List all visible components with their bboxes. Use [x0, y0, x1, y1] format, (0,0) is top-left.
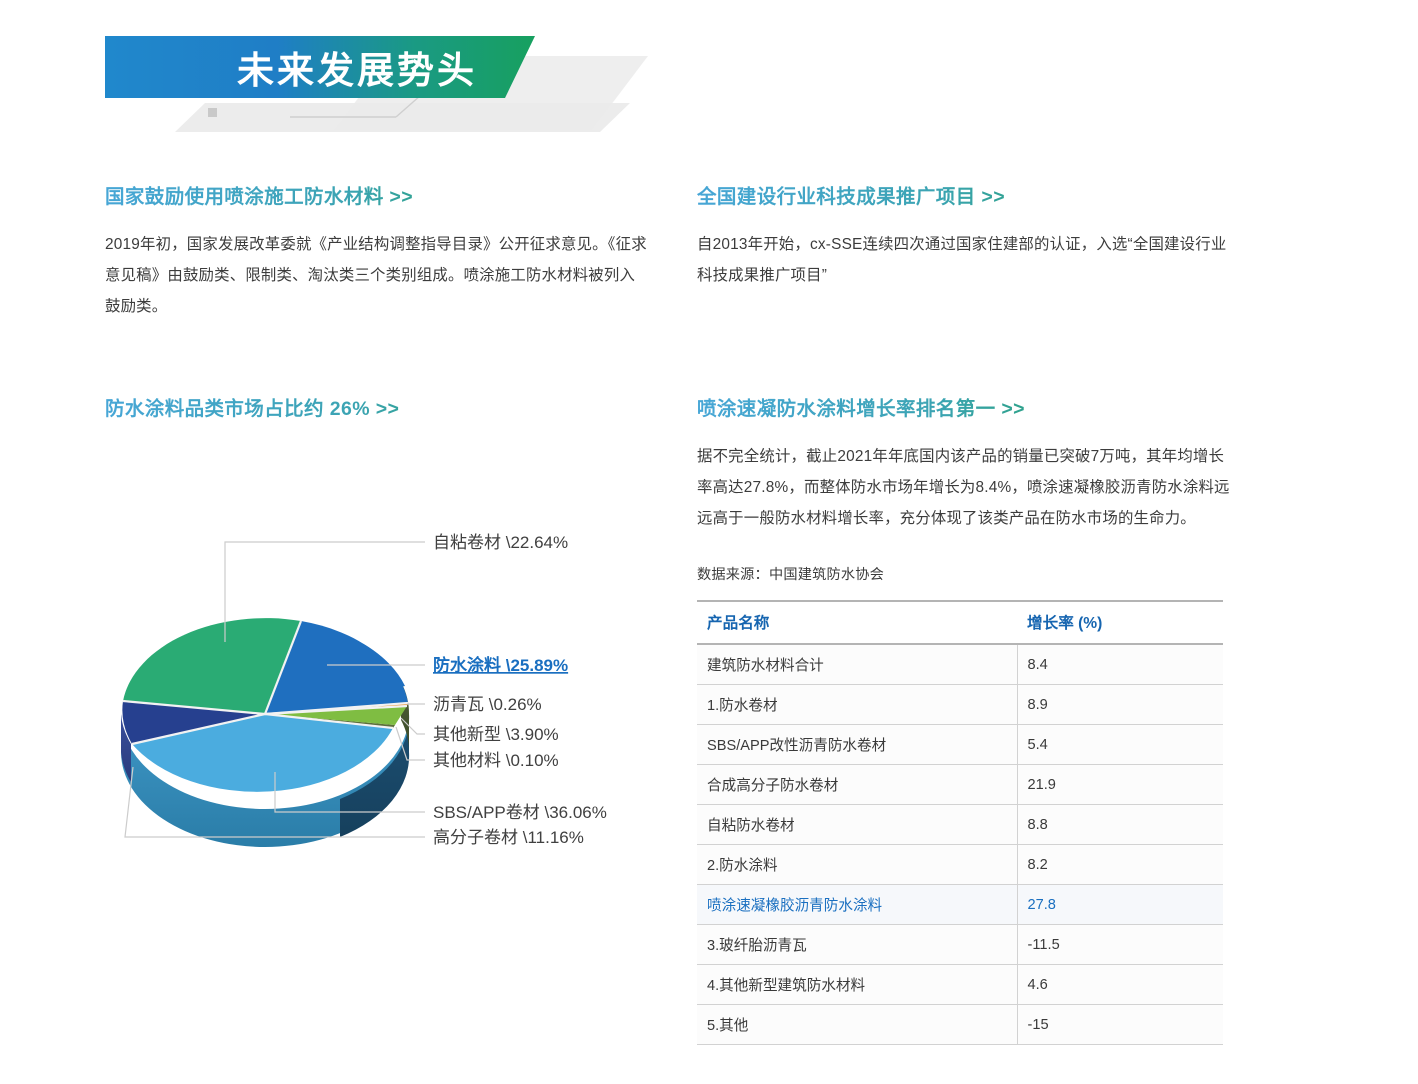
section-top-right: 全国建设行业科技成果推广项目 >> 自2013年开始，cx-SSE连续四次通过国… — [697, 180, 1237, 291]
section-body-growth-rank: 据不完全统计，截止2021年年底国内该产品的销量已突破7万吨，其年均增长率高达2… — [697, 441, 1237, 534]
cell-growth-rate: 8.8 — [1017, 805, 1223, 845]
cell-growth-rate: 4.6 — [1017, 965, 1223, 1005]
pie-label-fangshui-tuliao: 防水涂料 \25.89% — [433, 655, 568, 675]
table-row: SBS/APP改性沥青防水卷材5.4 — [697, 725, 1223, 765]
page-title: 未来发展势头 — [105, 36, 535, 98]
cell-product-name: 喷涂速凝橡胶沥青防水涂料 — [697, 885, 1017, 925]
cell-growth-rate: 8.9 — [1017, 685, 1223, 725]
page-header: 未来发展势头 — [0, 0, 1418, 150]
cell-product-name: 合成高分子防水卷材 — [697, 765, 1017, 805]
pie-chart: 自粘卷材 \22.64% 防水涂料 \25.89% 沥青瓦 \0.26% 其他新… — [105, 522, 665, 862]
section-heading-market-share: 防水涂料品类市场占比约 26% >> — [105, 392, 665, 421]
table-row: 2.防水涂料8.2 — [697, 845, 1223, 885]
section-bottom-left: 防水涂料品类市场占比约 26% >> — [105, 392, 665, 441]
cell-growth-rate: 5.4 — [1017, 725, 1223, 765]
cell-growth-rate: -11.5 — [1017, 925, 1223, 965]
pie-label-sbsapp-juancai: SBS/APP卷材 \36.06% — [433, 803, 607, 822]
table-row: 合成高分子防水卷材21.9 — [697, 765, 1223, 805]
table-row: 1.防水卷材8.9 — [697, 685, 1223, 725]
table-header-row: 产品名称 增长率 (%) — [697, 601, 1223, 644]
cell-growth-rate: 21.9 — [1017, 765, 1223, 805]
cell-growth-rate: 8.4 — [1017, 644, 1223, 685]
pie-label-other-material: 其他材料 \0.10% — [433, 751, 559, 770]
cell-product-name: 5.其他 — [697, 1005, 1017, 1045]
cell-product-name: 建筑防水材料合计 — [697, 644, 1017, 685]
column-header-product-name: 产品名称 — [697, 601, 1017, 644]
pie-chart-svg: 自粘卷材 \22.64% 防水涂料 \25.89% 沥青瓦 \0.26% 其他新… — [105, 522, 665, 862]
table-row: 建筑防水材料合计8.4 — [697, 644, 1223, 685]
table-header: 产品名称 增长率 (%) — [697, 601, 1223, 644]
cell-product-name: 4.其他新型建筑防水材料 — [697, 965, 1017, 1005]
table-row: 4.其他新型建筑防水材料4.6 — [697, 965, 1223, 1005]
section-top-left: 国家鼓励使用喷涂施工防水材料 >> 2019年初，国家发展改革委就《产业结构调整… — [105, 180, 650, 322]
table-row: 5.其他-15 — [697, 1005, 1223, 1045]
banner-decor-square — [208, 108, 217, 117]
pie-label-other-new-type: 其他新型 \3.90% — [433, 725, 559, 744]
cell-growth-rate: 8.2 — [1017, 845, 1223, 885]
cell-product-name: 1.防水卷材 — [697, 685, 1017, 725]
section-body-national-policy: 2019年初，国家发展改革委就《产业结构调整指导目录》公开征求意见。《征求意见稿… — [105, 229, 650, 322]
table-row: 自粘防水卷材8.8 — [697, 805, 1223, 845]
cell-product-name: SBS/APP改性沥青防水卷材 — [697, 725, 1017, 765]
section-heading-promotion-project: 全国建设行业科技成果推广项目 >> — [697, 180, 1237, 209]
section-heading-growth-rank: 喷涂速凝防水涂料增长率排名第一 >> — [697, 392, 1237, 421]
table-source-note: 数据来源：中国建筑防水协会 — [697, 564, 1237, 584]
growth-rate-table: 产品名称 增长率 (%) 建筑防水材料合计8.41.防水卷材8.9SBS/APP… — [697, 600, 1223, 1045]
cell-growth-rate: -15 — [1017, 1005, 1223, 1045]
table-body: 建筑防水材料合计8.41.防水卷材8.9SBS/APP改性沥青防水卷材5.4合成… — [697, 644, 1223, 1045]
table-row: 喷涂速凝橡胶沥青防水涂料27.8 — [697, 885, 1223, 925]
section-heading-national-policy: 国家鼓励使用喷涂施工防水材料 >> — [105, 180, 650, 209]
pie-label-zizhan-juancai: 自粘卷材 \22.64% — [433, 533, 568, 552]
column-header-growth-rate: 增长率 (%) — [1017, 601, 1223, 644]
table-row: 3.玻纤胎沥青瓦-11.5 — [697, 925, 1223, 965]
cell-product-name: 自粘防水卷材 — [697, 805, 1017, 845]
pie-label-gaofenzi-juancai: 高分子卷材 \11.16% — [433, 828, 584, 847]
pie-label-liqingwa: 沥青瓦 \0.26% — [433, 695, 542, 714]
cell-product-name: 2.防水涂料 — [697, 845, 1017, 885]
cell-product-name: 3.玻纤胎沥青瓦 — [697, 925, 1017, 965]
cell-growth-rate: 27.8 — [1017, 885, 1223, 925]
section-body-promotion-project: 自2013年开始，cx-SSE连续四次通过国家住建部的认证，入选“全国建设行业科… — [697, 229, 1237, 291]
section-bottom-right: 喷涂速凝防水涂料增长率排名第一 >> 据不完全统计，截止2021年年底国内该产品… — [697, 392, 1237, 1045]
